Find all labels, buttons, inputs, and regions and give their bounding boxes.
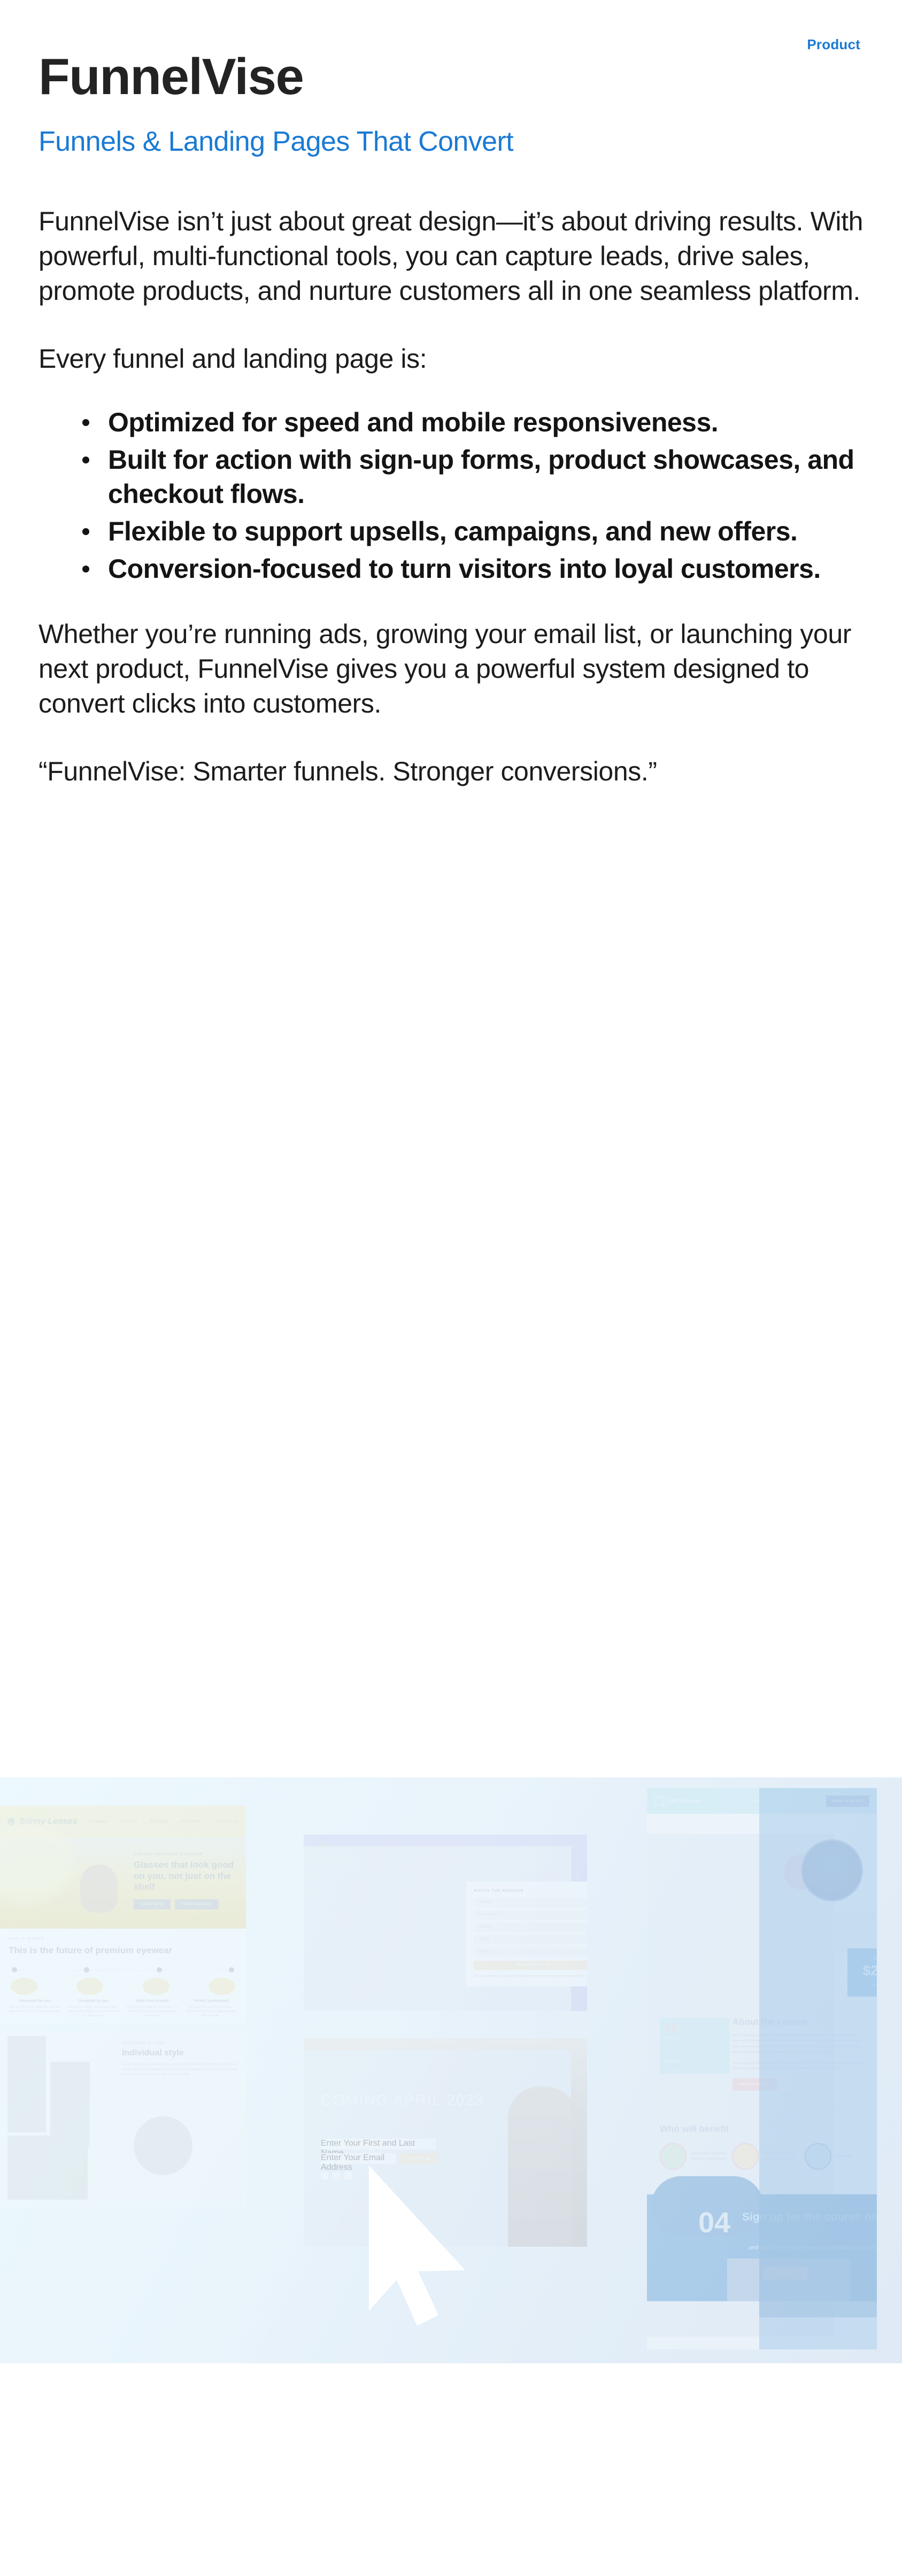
register-now-button[interactable]: REGISTER NOW bbox=[474, 1961, 587, 1970]
level-title: Level bbox=[665, 2058, 724, 2064]
closing-paragraph: Whether you’re running ads, growing your… bbox=[38, 617, 864, 721]
job-title-field[interactable]: Job Title bbox=[474, 1935, 587, 1944]
form-title: WATCH THE WEBINAR bbox=[474, 1889, 587, 1893]
alexa-paragraph: My Travel Blog is almost ready. Be one o… bbox=[321, 2117, 438, 2130]
gallery-photo bbox=[7, 2136, 88, 2200]
twitter-icon[interactable] bbox=[321, 2172, 328, 2179]
facebook-icon[interactable] bbox=[344, 2172, 352, 2179]
subscribe-button[interactable]: YES, I'M IN! bbox=[400, 2153, 437, 2164]
level-description: of practice and immersion in data scienc… bbox=[665, 2043, 724, 2053]
step-text: Use our iOS app to scan your face and ca… bbox=[9, 2005, 61, 2014]
sunny-hero-text: CUSTOM-TAILORED EYEWEAR Glasses that loo… bbox=[134, 1853, 236, 1909]
list-item: Conversion-focused to turn visitors into… bbox=[78, 552, 864, 586]
blue-overlay-panel-dark bbox=[759, 2194, 877, 2317]
list-item: Flexible to support upsells, campaigns, … bbox=[78, 514, 864, 548]
form-note: View this webinar now, and get notificat… bbox=[474, 1974, 587, 1979]
glasses-icon bbox=[143, 1978, 169, 1995]
step-text: We guarantee your Sunny Lenses glasses w… bbox=[185, 2005, 237, 2018]
individual-heading: Individual style bbox=[122, 2048, 241, 2058]
industry-field[interactable]: Industry bbox=[474, 1947, 587, 1956]
list-item: Optimized for speed and mobile responsiv… bbox=[78, 405, 864, 439]
shop-men-button[interactable]: SHOP MEN bbox=[134, 1899, 171, 1909]
level-text: Intermediate bbox=[665, 2064, 724, 2067]
level-card: 24 Hours of practice and immersion in da… bbox=[660, 2018, 729, 2074]
step-captions: Measured for you Use our iOS app to scan… bbox=[9, 1995, 237, 2018]
individual-eyebrow: DESIGNED BY YOU bbox=[122, 2041, 241, 2045]
level-hours-value: 24 bbox=[665, 2023, 724, 2035]
hero-portrait bbox=[80, 1865, 118, 1913]
step-dot bbox=[229, 1967, 234, 1972]
sunny-nav-links: FRAMES LENSES PRICING REVIEWS LOCATIONS bbox=[89, 1820, 238, 1824]
benefit-text: In-house SEO specialists working on larg… bbox=[691, 2151, 727, 2162]
step-title: Perfect, guaranteed bbox=[185, 1999, 237, 2003]
sunny-how-it-works: HOW IT WORKS This is the future of premi… bbox=[0, 1929, 246, 2023]
webinar-form: WATCH THE WEBINAR Full Name* Email Addre… bbox=[466, 1882, 587, 1986]
quote-paragraph: “FunnelVise: Smarter funnels. Stronger c… bbox=[38, 754, 864, 789]
sunny-hero: CUSTOM-TAILORED EYEWEAR Glasses that loo… bbox=[0, 1838, 246, 1929]
step-text: Each pair is crafted for one person at a… bbox=[126, 2005, 179, 2018]
cta-number: 04 bbox=[698, 2206, 730, 2239]
step-dots bbox=[9, 1967, 237, 1972]
mockup-sunny-lenses: Sunny Lenses FRAMES LENSES PRICING REVIE… bbox=[0, 1806, 246, 2346]
mockup-seo-solutions: SEO Solutions About Tutors Program Locat… bbox=[647, 1788, 877, 2349]
step-caption: Measured for you Use our iOS app to scan… bbox=[9, 1999, 61, 2018]
email-field[interactable]: Email Address* bbox=[474, 1910, 587, 1920]
step-dot bbox=[84, 1967, 89, 1972]
alexa-logo: alexa peterson bbox=[321, 2052, 366, 2060]
step-title: Measured for you bbox=[9, 1999, 61, 2003]
individual-style-block: DESIGNED BY YOU Individual style Like a … bbox=[122, 2041, 241, 2078]
intro-paragraph: FunnelVise isn’t just about great design… bbox=[38, 204, 864, 308]
how-eyebrow: HOW IT WORKS bbox=[9, 1937, 237, 1941]
benefit-item: In-house SEO specialists working on larg… bbox=[660, 2143, 727, 2170]
page-subtitle: Funnels & Landing Pages That Convert bbox=[38, 126, 864, 158]
person-illustration-icon bbox=[732, 2143, 759, 2170]
individual-text: Like a bespoke suit or couture dress, ex… bbox=[122, 2062, 241, 2078]
article-body: FunnelVise Funnels & Landing Pages That … bbox=[0, 0, 902, 789]
measure-icon bbox=[11, 1978, 37, 1995]
sunny-nav-item: LENSES bbox=[120, 1820, 137, 1824]
step-caption: Designed by you Select your style, choos… bbox=[67, 1999, 120, 2018]
alexa-heading: COMING APRIL 2023 bbox=[321, 2092, 484, 2109]
product-kicker: Product bbox=[807, 36, 860, 53]
lead-in-paragraph: Every funnel and landing page is: bbox=[38, 342, 864, 376]
step-icons bbox=[9, 1972, 237, 1995]
full-name-field[interactable]: Full Name* bbox=[474, 1898, 587, 1907]
person-illustration-icon bbox=[660, 2143, 687, 2170]
feature-list: Optimized for speed and mobile responsiv… bbox=[38, 405, 864, 586]
star-icon bbox=[209, 1978, 235, 1995]
sunny-hero-heading: Glasses that look good on you, not just … bbox=[134, 1860, 236, 1893]
step-caption: Made from scratch Each pair is crafted f… bbox=[126, 1999, 179, 2018]
how-heading: This is the future of premium eyewear bbox=[9, 1945, 237, 1956]
name-input[interactable]: Enter Your First and Last Name bbox=[321, 2139, 436, 2149]
gallery-photo bbox=[134, 2116, 192, 2175]
list-item: Built for action with sign-up forms, pro… bbox=[78, 443, 864, 511]
sunny-gallery: DESIGNED BY YOU Individual style Like a … bbox=[0, 2031, 246, 2207]
email-input[interactable]: Enter Your Email Address bbox=[321, 2153, 396, 2164]
page-title: FunnelVise bbox=[38, 51, 864, 103]
step-text: Select your style, choose your color, fi… bbox=[67, 2005, 120, 2018]
gallery-photo bbox=[7, 2036, 46, 2132]
chart-icon bbox=[654, 1797, 664, 1805]
sunny-nav-item: PRICING bbox=[150, 1820, 168, 1824]
step-dot bbox=[157, 1967, 162, 1972]
company-field[interactable]: Company bbox=[474, 1923, 587, 1932]
step-title: Made from scratch bbox=[126, 1999, 179, 2003]
landing-page-collage-banner: Sunny Lenses FRAMES LENSES PRICING REVIE… bbox=[0, 1777, 902, 2363]
sunny-hero-eyebrow: CUSTOM-TAILORED EYEWEAR bbox=[134, 1853, 236, 1856]
sunny-nav-item: LOCATIONS bbox=[214, 1820, 238, 1824]
step-title: Designed by you bbox=[67, 1999, 120, 2003]
level-hours-label: Hours bbox=[665, 2035, 724, 2040]
sunny-nav-item: FRAMES bbox=[89, 1820, 107, 1824]
sunny-nav-item: REVIEWS bbox=[181, 1820, 201, 1824]
design-icon bbox=[76, 1978, 103, 1995]
mockup-bar-marketing: BAR MARKETING What We Do Who We Are Abou… bbox=[304, 1835, 587, 2011]
shop-women-button[interactable]: SHOP WOMEN bbox=[175, 1899, 219, 1909]
step-caption: Perfect, guaranteed We guarantee your Su… bbox=[185, 1999, 237, 2018]
sunny-hero-buttons: SHOP MEN SHOP WOMEN bbox=[134, 1899, 236, 1909]
step-dot bbox=[12, 1967, 17, 1972]
seo-brand: SEO Solutions bbox=[668, 1798, 702, 1804]
instagram-icon[interactable] bbox=[333, 2172, 340, 2179]
gallery-photo bbox=[50, 2062, 90, 2147]
hero-portrait bbox=[508, 2086, 577, 2247]
social-links bbox=[321, 2172, 352, 2179]
